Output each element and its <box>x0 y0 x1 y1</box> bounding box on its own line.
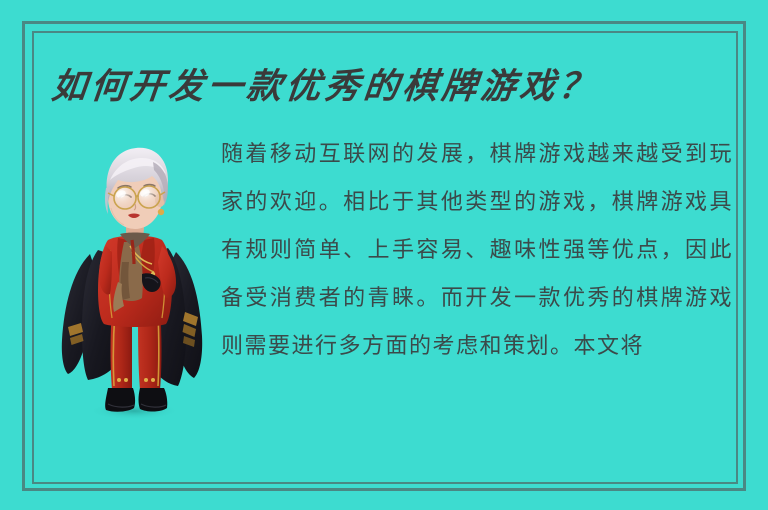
gold-earring <box>158 209 164 215</box>
page-title: 如何开发一款优秀的棋牌游戏？ <box>49 58 714 109</box>
chibi-character-illustration <box>58 122 208 422</box>
character-head <box>105 148 168 229</box>
article-banner: 如何开发一款优秀的棋牌游戏？ 随着移动互联网的发展，棋牌游戏越来越受到玩家的欢迎… <box>0 0 768 510</box>
article-body-text: 随着移动互联网的发展，棋牌游戏越来越受到玩家的欢迎。相比于其他类型的游戏，棋牌游… <box>221 131 733 371</box>
